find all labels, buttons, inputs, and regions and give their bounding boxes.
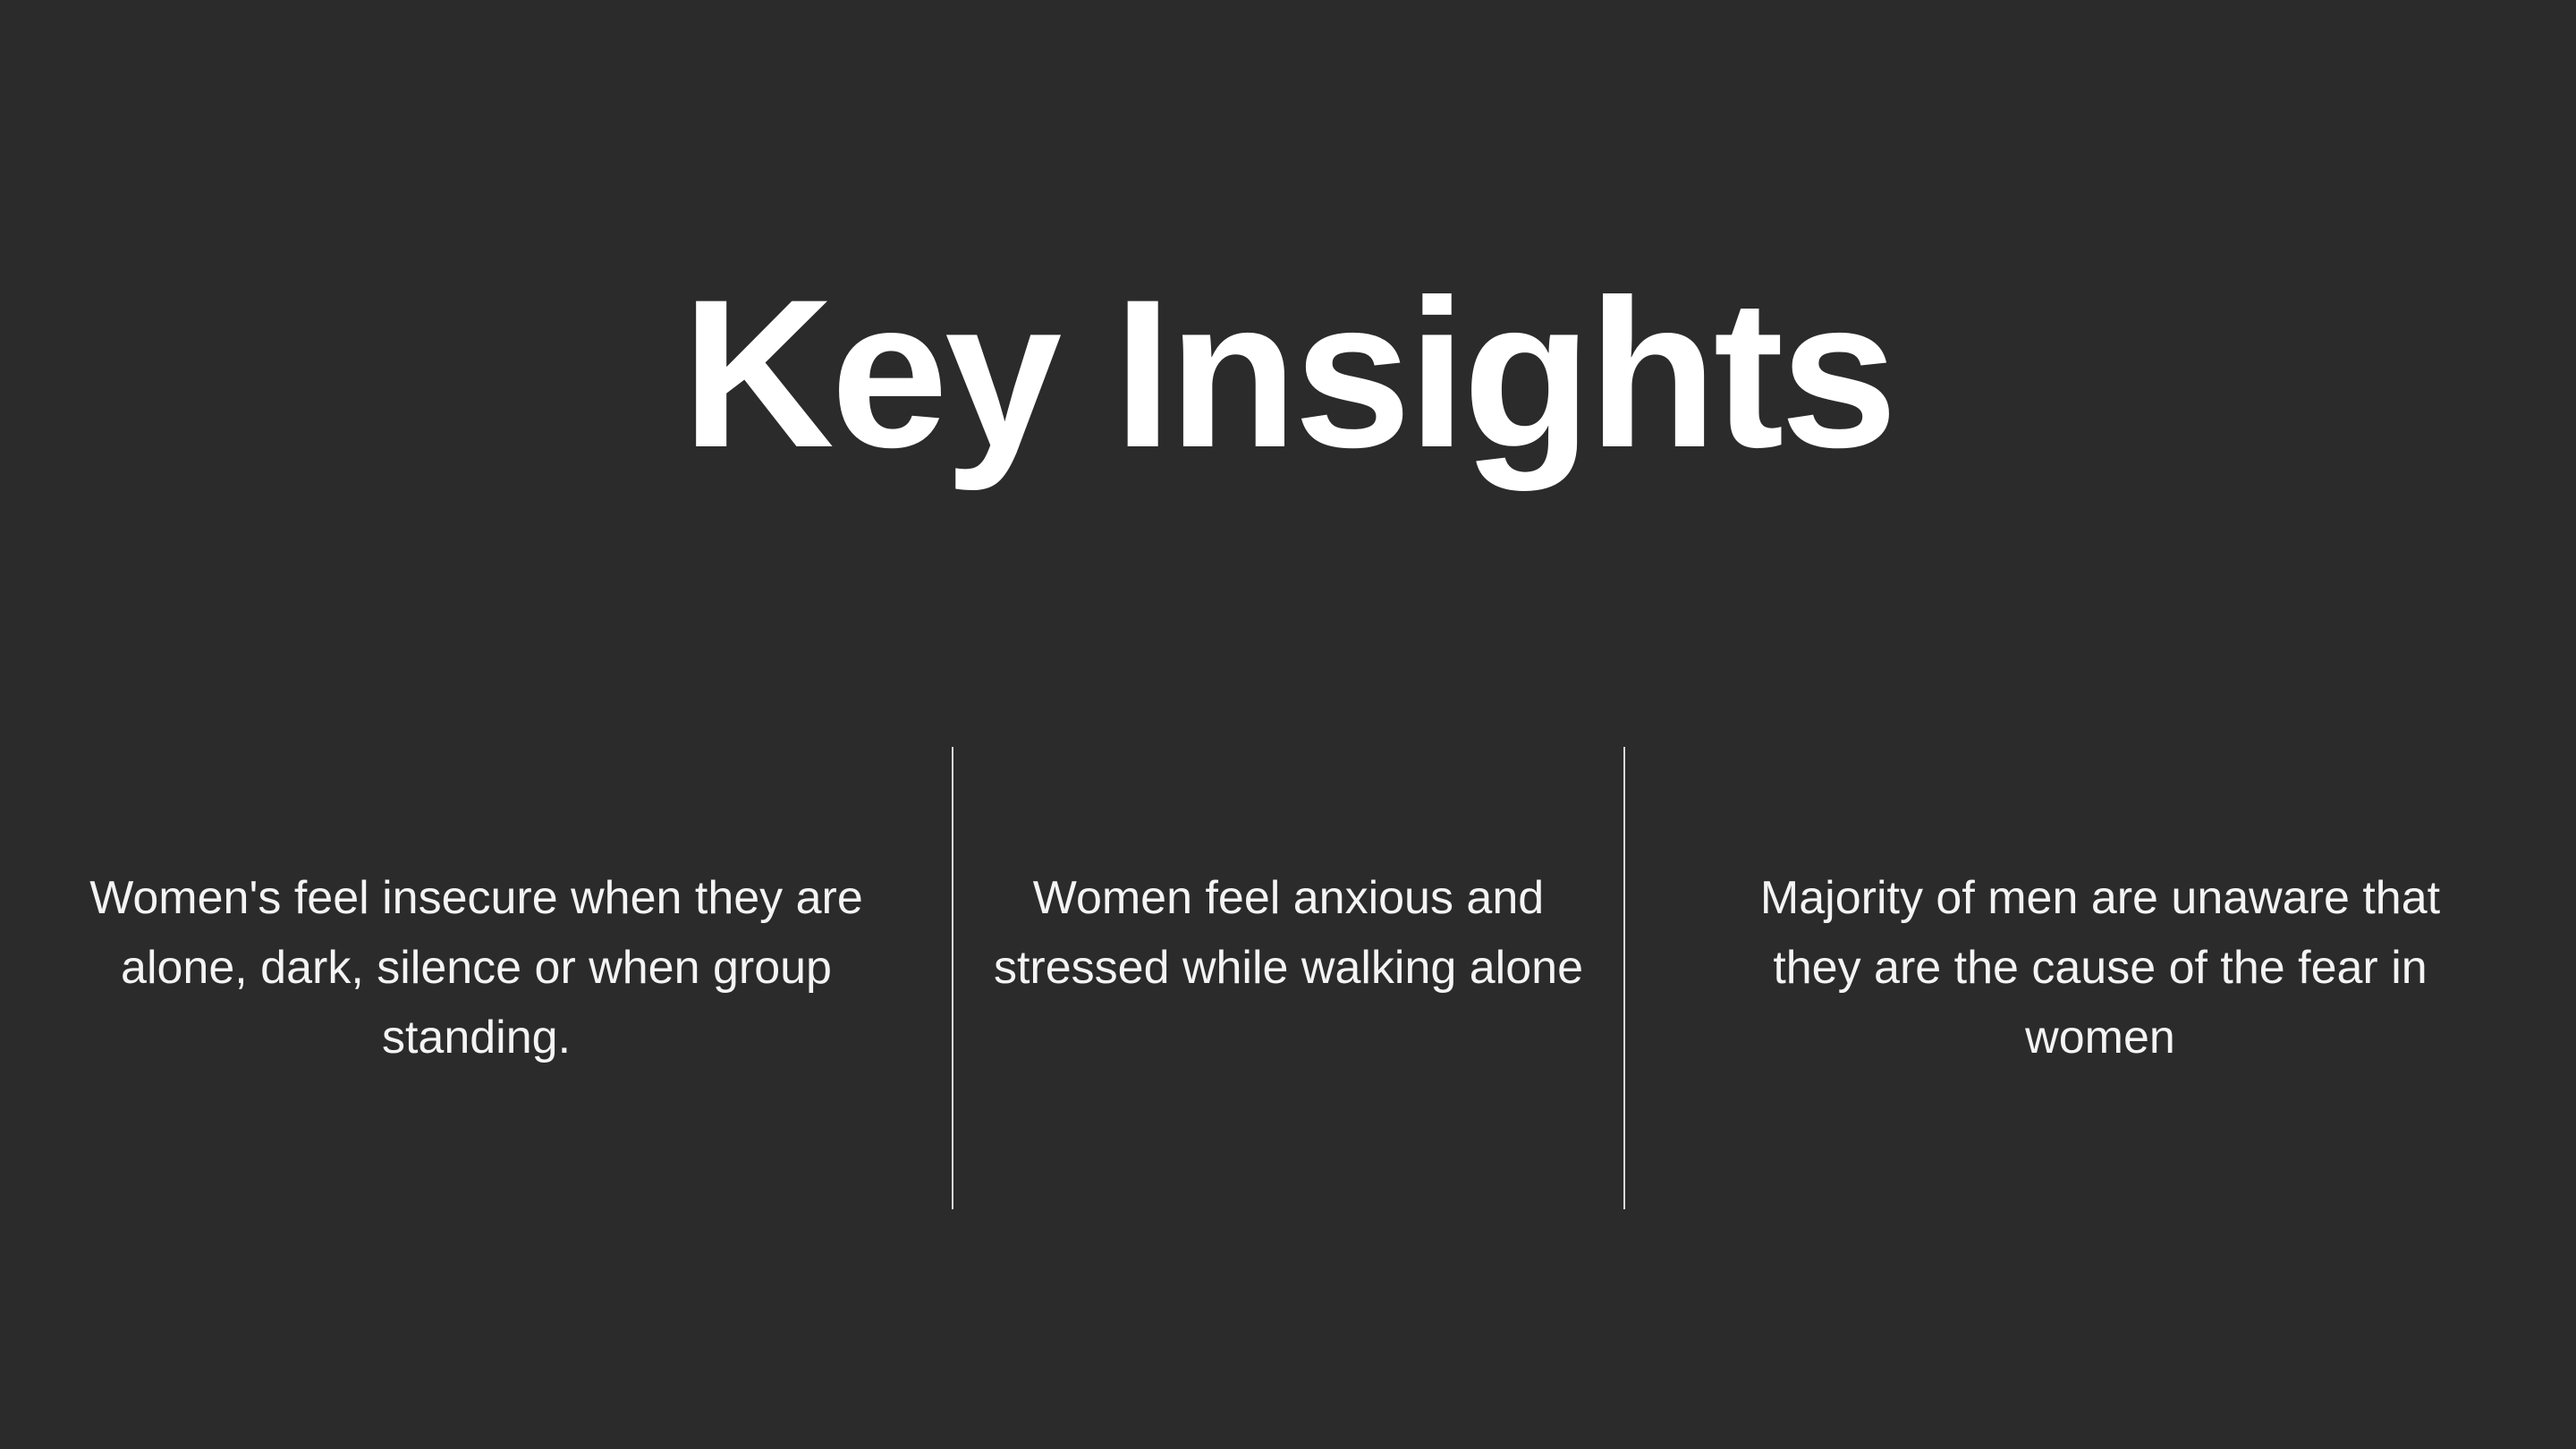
insight-text-2: Women feel anxious and stressed while wa…: [993, 863, 1584, 1212]
insights-columns: Women's feel insecure when they are alon…: [0, 747, 2576, 1212]
page-title: Key Insights: [682, 268, 1894, 479]
insight-column-3: Majority of men are unaware that they ar…: [1624, 747, 2576, 1212]
column-divider-2: [1623, 747, 1625, 1209]
insight-column-1: Women's feel insecure when they are alon…: [0, 747, 953, 1212]
column-divider-1: [952, 747, 953, 1209]
insight-column-2: Women feel anxious and stressed while wa…: [953, 747, 1624, 1212]
insight-text-3: Majority of men are unaware that they ar…: [1718, 863, 2482, 1212]
insight-text-1: Women's feel insecure when they are alon…: [63, 863, 890, 1212]
title-container: Key Insights: [0, 268, 2576, 479]
key-insights-slide: Key Insights Women's feel insecure when …: [0, 0, 2576, 1449]
